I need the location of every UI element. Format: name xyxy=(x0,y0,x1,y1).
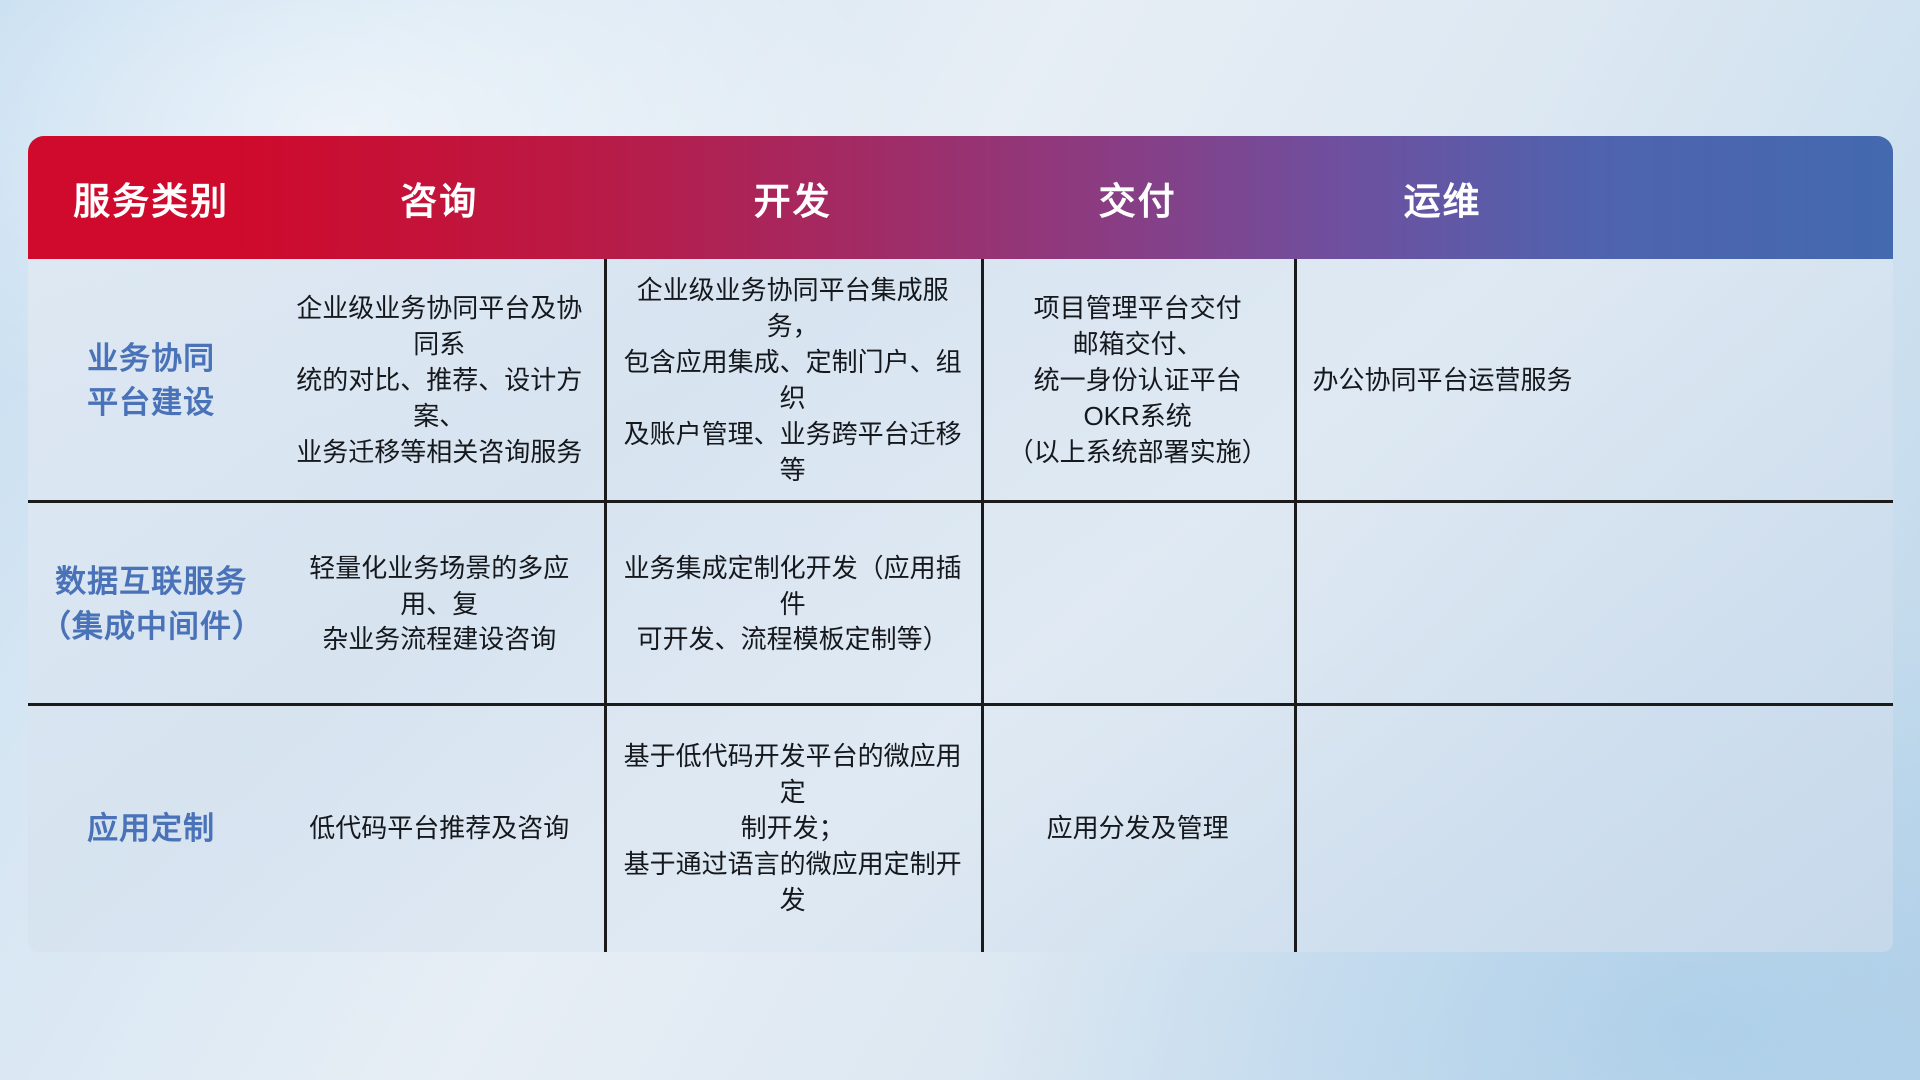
cell-row2-consulting: 轻量化业务场景的多应用、复 杂业务流程建设咨询 xyxy=(274,503,604,706)
column-header-development-label: 开发 xyxy=(754,171,832,225)
cell-text: 企业级业务协同平台集成服务， 包含应用集成、定制门户、组织 及账户管理、业务跨平… xyxy=(616,273,969,488)
column-header-development: 开发 xyxy=(604,136,981,259)
row-label-text: 业务协同 平台建设 xyxy=(87,337,215,425)
cell-text: 基于低代码开发平台的微应用定 制开发； 基于通过语言的微应用定制开发 xyxy=(616,739,969,918)
cell-text: 低代码平台推荐及咨询 xyxy=(309,811,569,847)
table-body: 业务协同 平台建设 企业级业务协同平台及协同系 统的对比、推荐、设计方案、 业务… xyxy=(28,259,1893,952)
service-matrix-table: 服务类别 咨询 开发 交付 运维 业务协同 平台建设 企业级业务协同平台及协同系… xyxy=(28,136,1893,952)
cell-row3-development: 基于低代码开发平台的微应用定 制开发； 基于通过语言的微应用定制开发 xyxy=(604,706,981,952)
row-label-data-integration: 数据互联服务 （集成中间件） xyxy=(28,503,274,706)
column-header-category: 服务类别 xyxy=(28,136,274,259)
table-row: 应用定制 低代码平台推荐及咨询 基于低代码开发平台的微应用定 制开发； 基于通过… xyxy=(28,706,1893,952)
column-header-consulting: 咨询 xyxy=(274,136,604,259)
cell-row1-delivery: 项目管理平台交付 邮箱交付、 统一身份认证平台 OKR系统 （以上系统部署实施） xyxy=(981,259,1294,503)
row-label-text: 应用定制 xyxy=(87,807,215,851)
cell-text: 项目管理平台交付 邮箱交付、 统一身份认证平台 OKR系统 （以上系统部署实施） xyxy=(1008,291,1268,470)
cell-row3-operations xyxy=(1294,706,1591,952)
cell-text: 应用分发及管理 xyxy=(1047,811,1229,847)
cell-row1-operations: 办公协同平台运营服务 xyxy=(1294,259,1591,503)
cell-row3-delivery: 应用分发及管理 xyxy=(981,706,1294,952)
cell-row2-development: 业务集成定制化开发（应用插件 可开发、流程模板定制等） xyxy=(604,503,981,706)
cell-text: 企业级业务协同平台及协同系 统的对比、推荐、设计方案、 业务迁移等相关咨询服务 xyxy=(286,291,592,470)
cell-text: 业务集成定制化开发（应用插件 可开发、流程模板定制等） xyxy=(616,551,969,659)
cell-row2-delivery xyxy=(981,503,1294,706)
column-header-category-label: 服务类别 xyxy=(73,171,229,225)
table-row: 数据互联服务 （集成中间件） 轻量化业务场景的多应用、复 杂业务流程建设咨询 业… xyxy=(28,503,1893,706)
cell-row3-consulting: 低代码平台推荐及咨询 xyxy=(274,706,604,952)
cell-text: 轻量化业务场景的多应用、复 杂业务流程建设咨询 xyxy=(286,551,592,659)
cell-row1-development: 企业级业务协同平台集成服务， 包含应用集成、定制门户、组织 及账户管理、业务跨平… xyxy=(604,259,981,503)
cell-row1-consulting: 企业级业务协同平台及协同系 统的对比、推荐、设计方案、 业务迁移等相关咨询服务 xyxy=(274,259,604,503)
table-header-row: 服务类别 咨询 开发 交付 运维 xyxy=(28,136,1893,259)
column-header-operations-label: 运维 xyxy=(1404,171,1482,225)
column-header-delivery-label: 交付 xyxy=(1099,171,1177,225)
row-label-app-customization: 应用定制 xyxy=(28,706,274,952)
column-header-consulting-label: 咨询 xyxy=(400,171,478,225)
column-header-delivery: 交付 xyxy=(981,136,1294,259)
row-label-text: 数据互联服务 （集成中间件） xyxy=(40,560,262,648)
table-row: 业务协同 平台建设 企业级业务协同平台及协同系 统的对比、推荐、设计方案、 业务… xyxy=(28,259,1893,503)
column-header-operations: 运维 xyxy=(1294,136,1591,259)
cell-row2-operations xyxy=(1294,503,1591,706)
row-label-business-collaboration: 业务协同 平台建设 xyxy=(28,259,274,503)
cell-text: 办公协同平台运营服务 xyxy=(1313,363,1573,399)
